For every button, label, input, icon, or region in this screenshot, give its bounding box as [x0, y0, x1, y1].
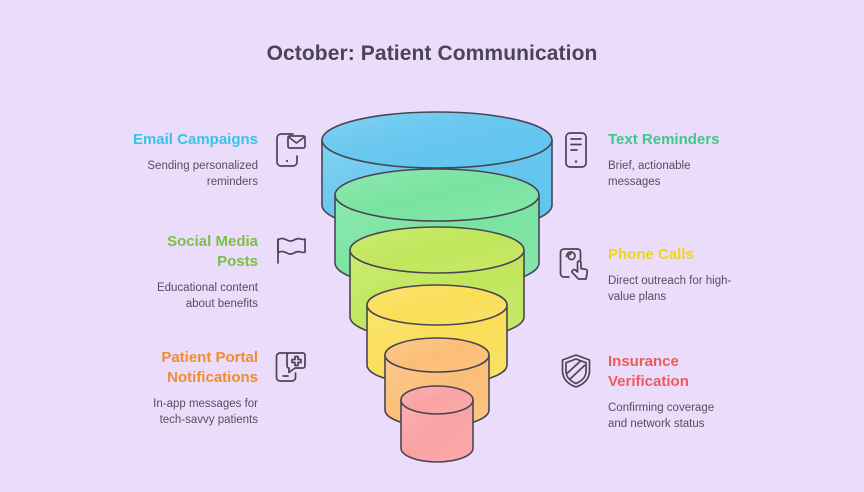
- funnel-label-email-campaigns[interactable]: Email Campaigns Sending personalized rem…: [98, 130, 310, 190]
- tablet-medical-message-icon: [270, 348, 310, 392]
- funnel-label-phone-calls[interactable]: Phone Calls Direct outreach for high- va…: [556, 245, 781, 305]
- flag-icon: [270, 232, 310, 276]
- item-description: Direct outreach for high- value plans: [608, 273, 731, 305]
- item-title: Insurance Verification: [608, 352, 714, 392]
- funnel-chart: [307, 100, 567, 470]
- item-description: Sending personalized reminders: [133, 158, 258, 190]
- item-title: Text Reminders: [608, 130, 719, 150]
- funnel-label-social-media-posts[interactable]: Social Media Posts Educational content a…: [98, 232, 310, 312]
- phone-sms-icon: [556, 130, 596, 174]
- funnel-segment-6: [401, 386, 473, 462]
- item-description: Confirming coverage and network status: [608, 400, 714, 432]
- item-title: Email Campaigns: [133, 130, 258, 150]
- page-title: October: Patient Communication: [0, 42, 864, 66]
- phone-envelope-icon: [270, 130, 310, 174]
- item-description: In-app messages for tech-savvy patients: [153, 396, 258, 428]
- funnel-label-insurance-verification[interactable]: Insurance Verification Confirming covera…: [556, 352, 781, 432]
- shield-icon: [556, 352, 596, 396]
- item-description: Brief, actionable messages: [608, 158, 719, 190]
- funnel-label-patient-portal-notifications[interactable]: Patient Portal Notifications In-app mess…: [98, 348, 310, 428]
- phone-hand-tap-icon: [556, 245, 596, 289]
- item-title: Phone Calls: [608, 245, 731, 265]
- item-description: Educational content about benefits: [157, 280, 258, 312]
- funnel-label-text-reminders[interactable]: Text Reminders Brief, actionable message…: [556, 130, 781, 190]
- infographic-canvas: October: Patient Communication: [0, 0, 864, 492]
- funnel-svg: [307, 100, 567, 470]
- item-title: Social Media Posts: [157, 232, 258, 272]
- item-title: Patient Portal Notifications: [153, 348, 258, 388]
